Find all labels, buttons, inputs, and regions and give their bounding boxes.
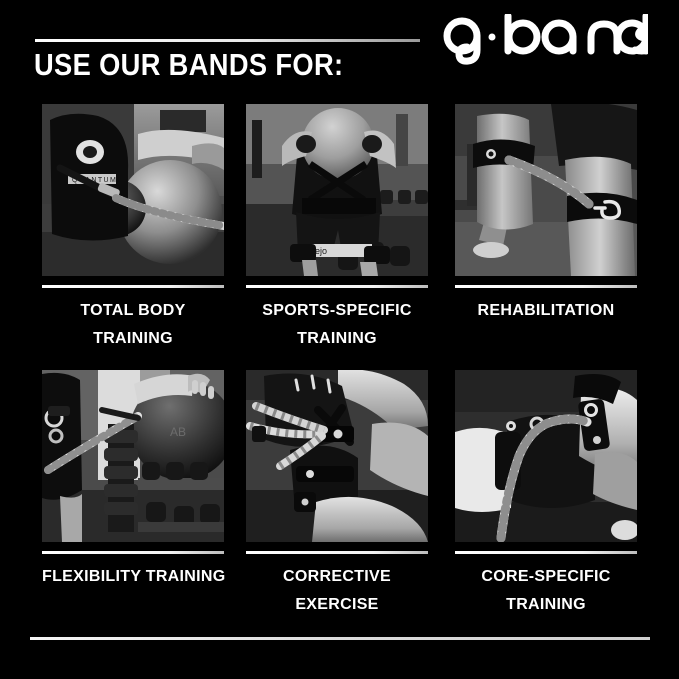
- page-title: USE OUR BANDS FOR:: [34, 48, 343, 82]
- footer-divider: [30, 637, 650, 640]
- benefit-cell-core-specific-training[interactable]: CORE-SPECIFIC TRAINING: [455, 370, 637, 619]
- benefit-caption-core-specific-training: CORE-SPECIFIC TRAINING: [455, 563, 637, 619]
- cell-divider: [42, 551, 224, 554]
- poster: USE OUR BANDS FOR:: [0, 0, 679, 679]
- cell-divider: [246, 285, 428, 288]
- core-specific-training-photo: [455, 370, 637, 542]
- cell-divider: [246, 551, 428, 554]
- cell-divider: [455, 285, 637, 288]
- benefit-row-1: QUANTUM TOTAL BODY TRAINING: [0, 104, 679, 370]
- cell-divider: [42, 285, 224, 288]
- benefit-grid: QUANTUM TOTAL BODY TRAINING: [0, 104, 679, 370]
- benefit-cell-sports-specific-training[interactable]: rejo SPORTS-SPECIFIC TRAINING: [246, 104, 428, 353]
- benefit-cell-corrective-exercise[interactable]: CORRECTIVE EXERCISE: [246, 370, 428, 619]
- svg-text:AB: AB: [170, 425, 186, 439]
- benefit-cell-total-body-training[interactable]: QUANTUM TOTAL BODY TRAINING: [42, 104, 224, 353]
- q-bands-logo-mark: [436, 14, 648, 68]
- sports-specific-training-photo: rejo: [246, 104, 428, 276]
- benefit-row-2: AB: [0, 370, 679, 638]
- rehabilitation-photo: [455, 104, 637, 276]
- corrective-exercise-photo: [246, 370, 428, 542]
- total-body-training-photo: QUANTUM: [42, 104, 224, 276]
- benefit-caption-flexibility-training: FLEXIBILITY TRAINING: [42, 563, 224, 591]
- benefit-caption-rehabilitation: REHABILITATION: [455, 297, 637, 325]
- cell-divider: [455, 551, 637, 554]
- benefit-cell-flexibility-training[interactable]: AB: [42, 370, 224, 591]
- benefit-caption-total-body-training: TOTAL BODY TRAINING: [42, 297, 224, 353]
- benefit-caption-sports-specific-training: SPORTS-SPECIFIC TRAINING: [246, 297, 428, 353]
- header-divider: [35, 39, 420, 42]
- benefit-cell-rehabilitation[interactable]: REHABILITATION: [455, 104, 637, 325]
- benefit-caption-corrective-exercise: CORRECTIVE EXERCISE: [246, 563, 428, 619]
- q-bands-logo: [436, 14, 648, 68]
- flexibility-training-photo: AB: [42, 370, 224, 542]
- poster-header: USE OUR BANDS FOR:: [0, 0, 679, 100]
